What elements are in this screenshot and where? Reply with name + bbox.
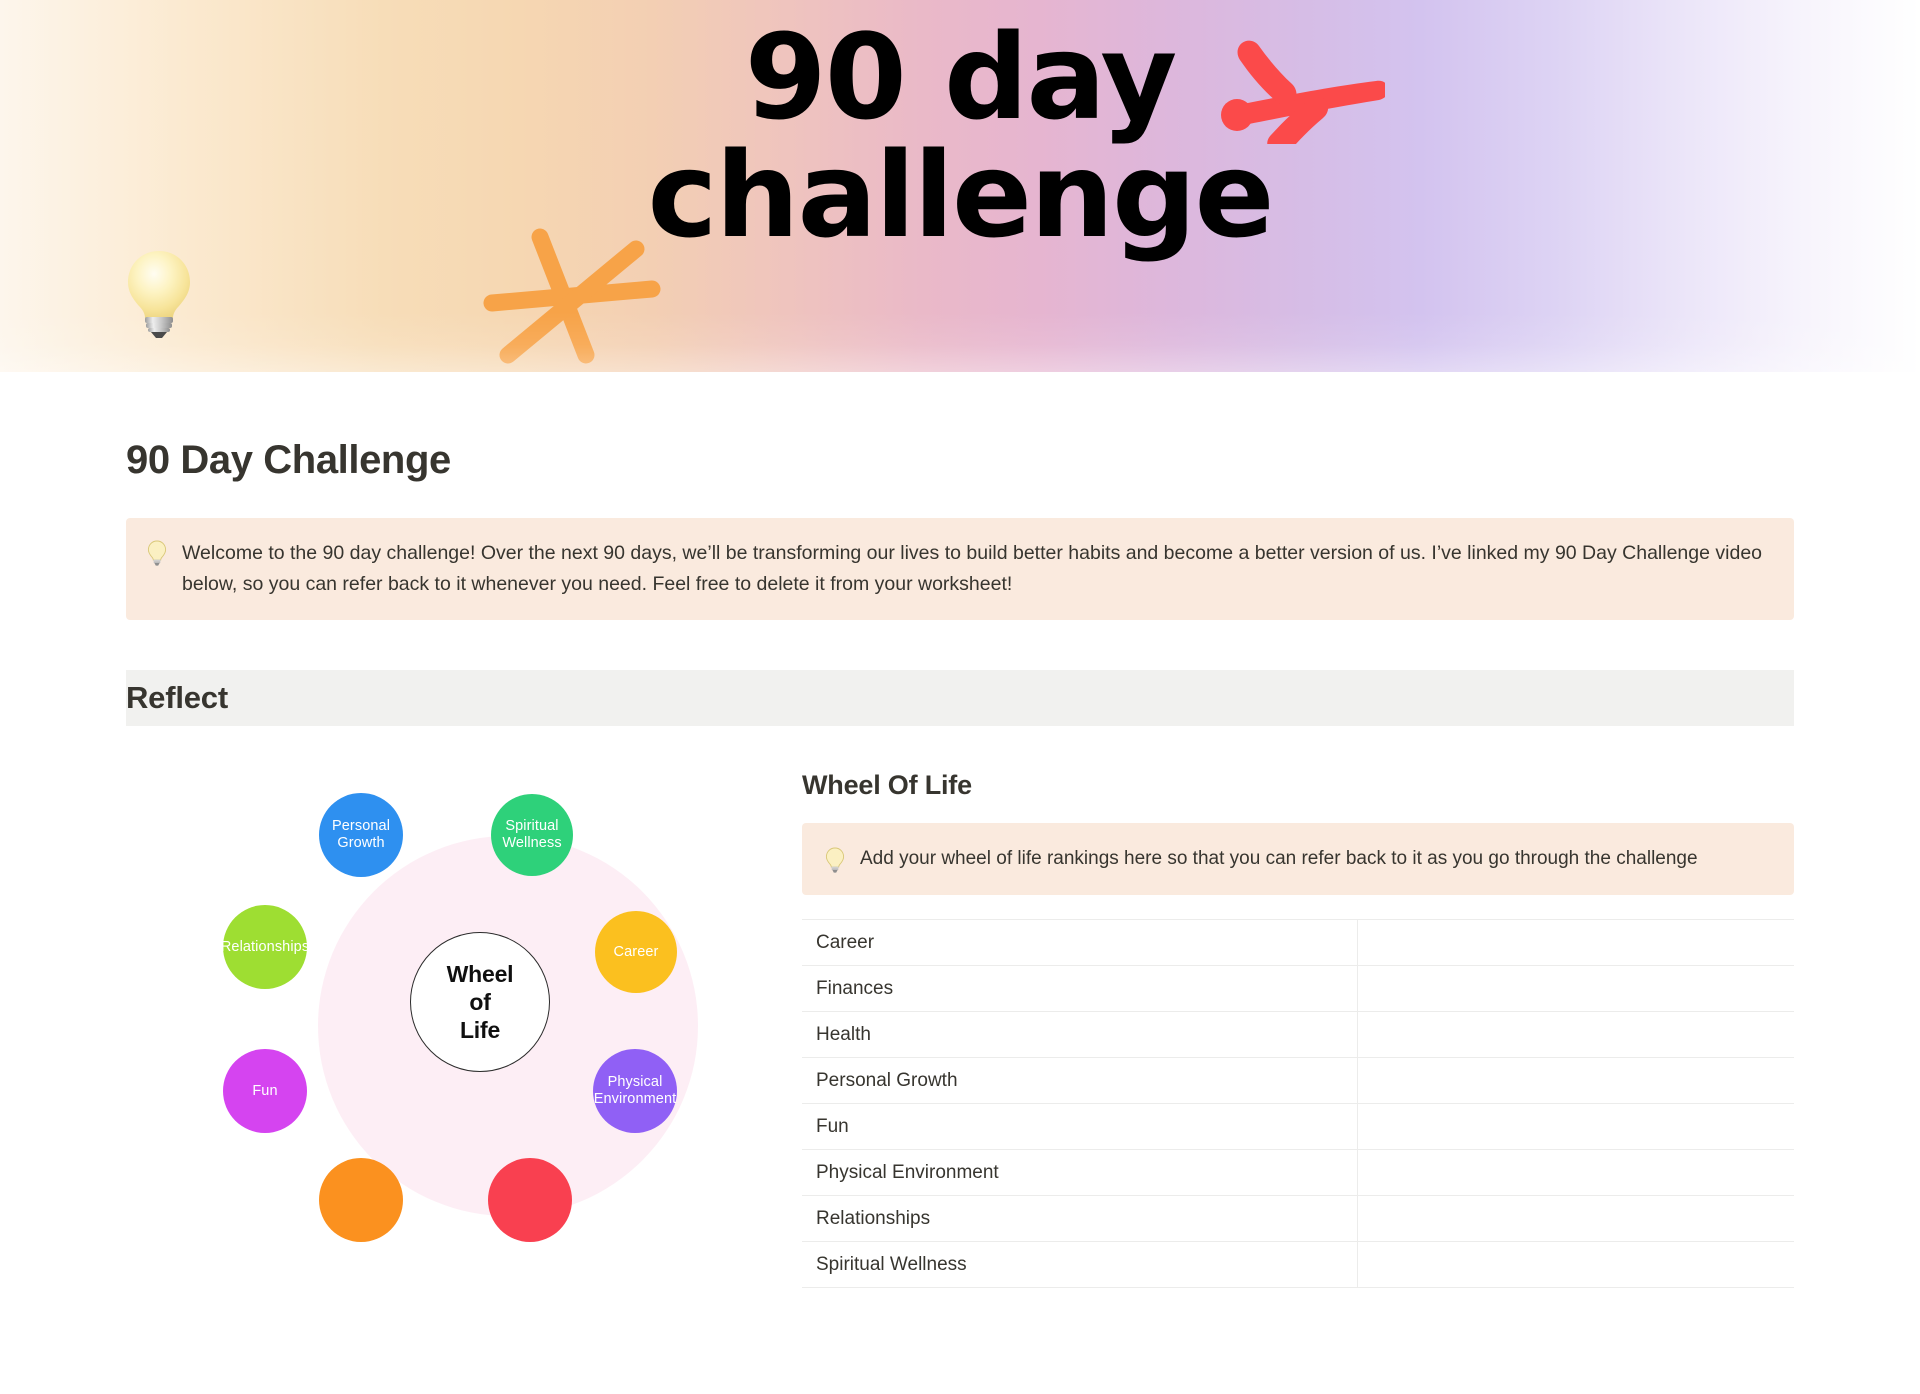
wheel-node[interactable]: Spiritual Wellness	[491, 794, 573, 876]
cover-banner[interactable]: 90 daychallenge	[0, 0, 1920, 372]
page-root: 90 daychallenge	[0, 0, 1920, 1394]
table-cell-label[interactable]: Personal Growth	[802, 1058, 1358, 1104]
red-arrow-icon	[1185, 34, 1385, 144]
table-cell-label[interactable]: Career	[802, 920, 1358, 966]
section-heading-reflect: Reflect	[126, 670, 1794, 727]
wheel-node[interactable]: Relationships	[223, 905, 307, 989]
table-cell-value[interactable]	[1358, 1104, 1794, 1150]
wheel-panel-callout-text: Add your wheel of life rankings here so …	[860, 844, 1698, 874]
wheel-node[interactable]: Personal Growth	[319, 793, 403, 877]
page-title: 90 Day Challenge	[126, 436, 1794, 484]
table-row[interactable]: Physical Environment	[802, 1150, 1794, 1196]
table-row[interactable]: Finances	[802, 966, 1794, 1012]
reflect-columns: Wheel of Life Personal GrowthSpiritual W…	[126, 754, 1794, 1394]
wheel-node[interactable]: Fun	[223, 1049, 307, 1133]
table-cell-label[interactable]: Health	[802, 1012, 1358, 1058]
table-cell-value[interactable]	[1358, 1012, 1794, 1058]
wheel-node-label: Fun	[252, 1083, 277, 1101]
table-cell-value[interactable]	[1358, 1242, 1794, 1288]
wheel-node-label: Physical Environment	[594, 1074, 677, 1109]
table-cell-value[interactable]	[1358, 920, 1794, 966]
wheel-node[interactable]	[488, 1158, 572, 1242]
wheel-of-life-table: CareerFinancesHealthPersonal GrowthFunPh…	[802, 919, 1794, 1288]
table-cell-value[interactable]	[1358, 1196, 1794, 1242]
wheel-node-label: Personal Growth	[323, 818, 399, 853]
table-cell-value[interactable]	[1358, 966, 1794, 1012]
table-cell-value[interactable]	[1358, 1150, 1794, 1196]
cover-title: 90 daychallenge	[0, 18, 1920, 254]
wheel-hub-line3: Life	[460, 1016, 500, 1044]
table-cell-label[interactable]: Finances	[802, 966, 1358, 1012]
table-cell-label[interactable]: Physical Environment	[802, 1150, 1358, 1196]
wheel-column: Wheel of Life Personal GrowthSpiritual W…	[126, 754, 758, 1394]
wheel-node[interactable]: Physical Environment	[593, 1049, 677, 1133]
wheel-of-life-diagram: Wheel of Life Personal GrowthSpiritual W…	[126, 754, 758, 1394]
table-cell-value[interactable]	[1358, 1058, 1794, 1104]
content-area: 90 Day Challenge Welcome to the 90 day c…	[0, 436, 1920, 1394]
wheel-node-label: Career	[614, 944, 659, 962]
intro-callout-text: Welcome to the 90 day challenge! Over th…	[182, 538, 1762, 600]
wheel-node[interactable]: Career	[595, 911, 677, 993]
orange-star-icon	[478, 215, 678, 372]
wheel-hub: Wheel of Life	[410, 932, 550, 1072]
lightbulb-icon	[120, 248, 198, 338]
wheel-node[interactable]	[319, 1158, 403, 1242]
wheel-of-life-panel: Wheel Of Life Add your wheel of life ran…	[802, 754, 1794, 1288]
table-cell-label[interactable]: Fun	[802, 1104, 1358, 1150]
intro-callout[interactable]: Welcome to the 90 day challenge! Over th…	[126, 518, 1794, 620]
table-cell-label[interactable]: Spiritual Wellness	[802, 1242, 1358, 1288]
panel-title: Wheel Of Life	[802, 770, 1794, 801]
lightbulb-icon	[146, 540, 168, 566]
table-row[interactable]: Spiritual Wellness	[802, 1242, 1794, 1288]
table-cell-label[interactable]: Relationships	[802, 1196, 1358, 1242]
wheel-node-label: Spiritual Wellness	[495, 818, 569, 853]
table-row[interactable]: Relationships	[802, 1196, 1794, 1242]
table-row[interactable]: Personal Growth	[802, 1058, 1794, 1104]
table-row[interactable]: Health	[802, 1012, 1794, 1058]
table-row[interactable]: Career	[802, 920, 1794, 966]
lightbulb-icon	[824, 847, 846, 873]
wheel-hub-line1: Wheel	[447, 960, 514, 988]
cover-title-line2: challenge	[647, 126, 1272, 264]
wheel-hub-line2: of	[469, 988, 490, 1016]
table-row[interactable]: Fun	[802, 1104, 1794, 1150]
wheel-node-label: Relationships	[221, 939, 309, 957]
wheel-panel-callout[interactable]: Add your wheel of life rankings here so …	[802, 823, 1794, 895]
